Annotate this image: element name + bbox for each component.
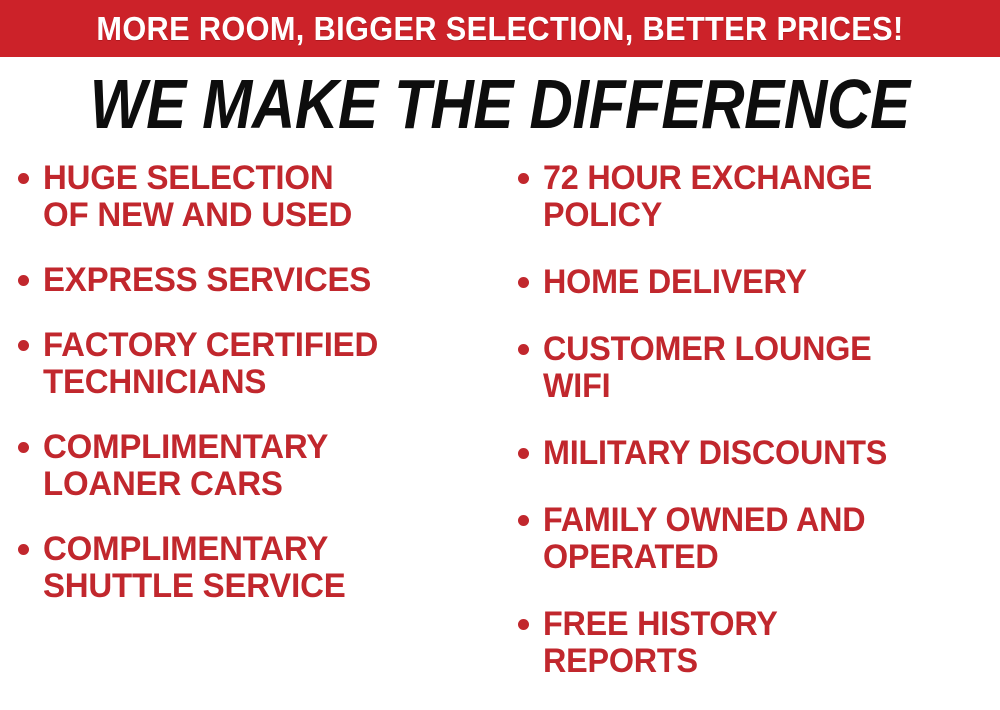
- feature-list-item: FAMILY OWNED AND OPERATED: [518, 502, 1000, 576]
- feature-list-item: COMPLIMENTARY LOANER CARS: [18, 429, 488, 503]
- feature-list-item-label: FAMILY OWNED AND OPERATED: [543, 502, 977, 576]
- feature-list-item: COMPLIMENTARY SHUTTLE SERVICE: [18, 531, 488, 605]
- bullet-dot-icon: [18, 340, 29, 351]
- feature-list-item: CUSTOMER LOUNGE WIFI: [518, 331, 1000, 405]
- bullet-dot-icon: [518, 173, 529, 184]
- feature-list-item: HUGE SELECTION OF NEW AND USED: [18, 160, 488, 234]
- feature-list-right: 72 HOUR EXCHANGE POLICYHOME DELIVERYCUST…: [518, 160, 1000, 710]
- bullet-dot-icon: [518, 344, 529, 355]
- main-headline: WE MAKE THE DIFFERENCE: [90, 69, 910, 139]
- feature-list-item-label: FREE HISTORY REPORTS: [543, 606, 977, 680]
- feature-list-left: HUGE SELECTION OF NEW AND USEDEXPRESS SE…: [18, 160, 488, 633]
- bullet-dot-icon: [18, 442, 29, 453]
- bullet-dot-icon: [518, 448, 529, 459]
- feature-list-item: 72 HOUR EXCHANGE POLICY: [518, 160, 1000, 234]
- top-banner-strip: MORE ROOM, BIGGER SELECTION, BETTER PRIC…: [0, 0, 1000, 57]
- feature-list-item-label: HOME DELIVERY: [543, 264, 977, 301]
- feature-list-item-label: EXPRESS SERVICES: [43, 262, 475, 299]
- feature-list-item-label: HUGE SELECTION OF NEW AND USED: [43, 160, 475, 234]
- feature-list-item-label: CUSTOMER LOUNGE WIFI: [543, 331, 977, 405]
- feature-list-item: FREE HISTORY REPORTS: [518, 606, 1000, 680]
- feature-list-item: HOME DELIVERY: [518, 264, 1000, 301]
- feature-list-item: EXPRESS SERVICES: [18, 262, 488, 299]
- feature-list-item-label: FACTORY CERTIFIED TECHNICIANS: [43, 327, 475, 401]
- feature-list-item-label: MILITARY DISCOUNTS: [543, 435, 977, 472]
- top-banner-headline: MORE ROOM, BIGGER SELECTION, BETTER PRIC…: [96, 12, 903, 45]
- bullet-dot-icon: [18, 544, 29, 555]
- bullet-dot-icon: [518, 619, 529, 630]
- feature-list-item-label: COMPLIMENTARY LOANER CARS: [43, 429, 475, 503]
- bullet-dot-icon: [518, 515, 529, 526]
- bullet-dot-icon: [18, 275, 29, 286]
- feature-list-item: MILITARY DISCOUNTS: [518, 435, 1000, 472]
- feature-list-item-label: 72 HOUR EXCHANGE POLICY: [543, 160, 977, 234]
- feature-list-item: FACTORY CERTIFIED TECHNICIANS: [18, 327, 488, 401]
- main-headline-container: WE MAKE THE DIFFERENCE: [0, 68, 1000, 140]
- bullet-dot-icon: [518, 277, 529, 288]
- feature-list-item-label: COMPLIMENTARY SHUTTLE SERVICE: [43, 531, 475, 605]
- bullet-dot-icon: [18, 173, 29, 184]
- promotional-banner: MORE ROOM, BIGGER SELECTION, BETTER PRIC…: [0, 0, 1000, 694]
